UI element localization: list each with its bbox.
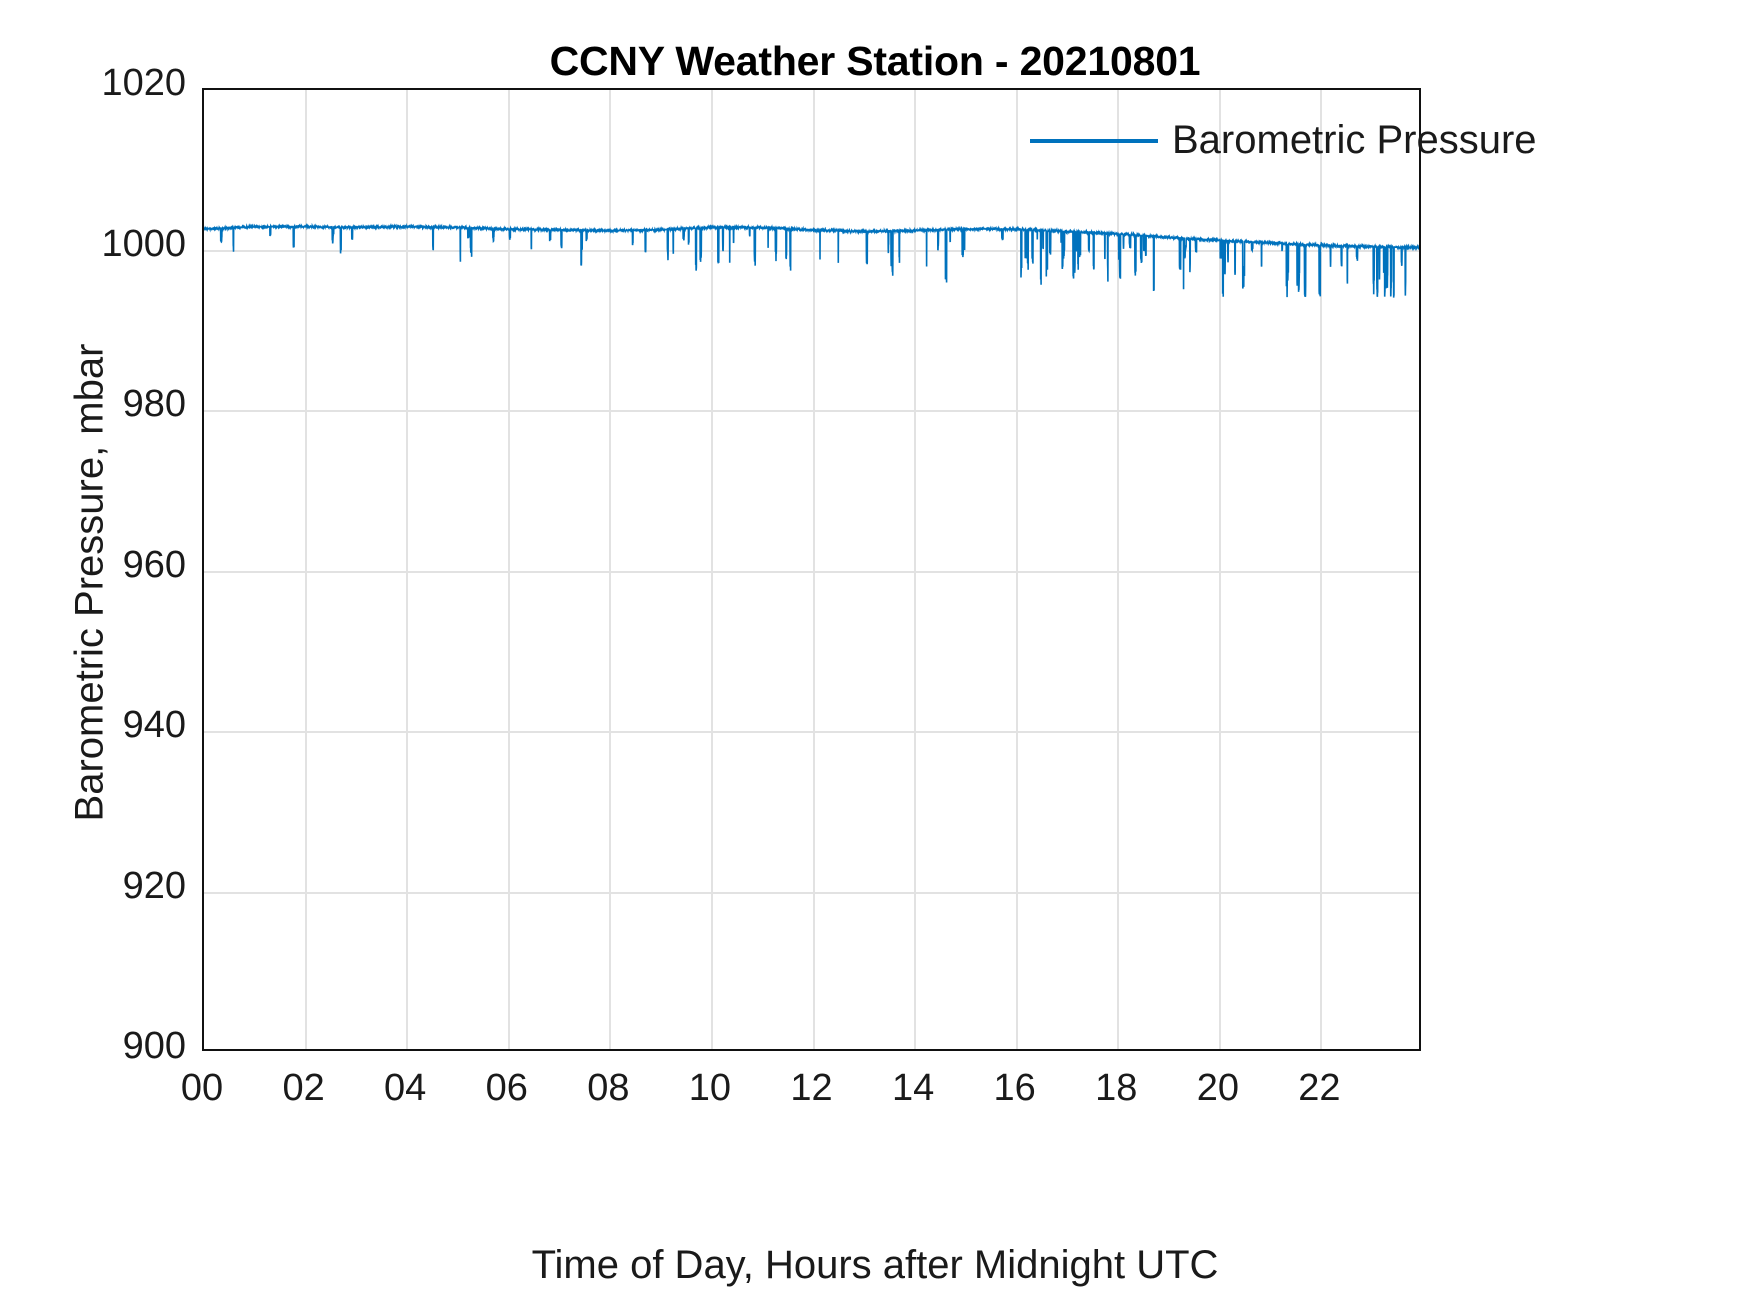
legend-line-swatch [1030, 139, 1158, 143]
plot-area [202, 88, 1421, 1051]
y-tick-label: 900 [123, 1025, 186, 1068]
data-series-barometric-pressure [204, 90, 1419, 1049]
y-tick-label: 1000 [101, 223, 186, 266]
y-tick-label: 940 [123, 704, 186, 747]
x-tick-label: 22 [1259, 1067, 1379, 1110]
y-tick-label: 1020 [101, 62, 186, 105]
x-axis-label: Time of Day, Hours after Midnight UTC [0, 1243, 1750, 1288]
y-tick-label: 960 [123, 544, 186, 587]
figure-canvas: CCNY Weather Station - 20210801 90092094… [0, 0, 1750, 1313]
legend: Barometric Pressure [1030, 118, 1537, 163]
y-axis-label: Barometric Pressure, mbar [68, 344, 112, 822]
y-tick-label: 980 [123, 383, 186, 426]
y-axis-label-wrapper: Barometric Pressure, mbar [68, 83, 113, 1083]
chart-title: CCNY Weather Station - 20210801 [0, 38, 1750, 85]
y-tick-label: 920 [123, 865, 186, 908]
legend-label-barometric-pressure: Barometric Pressure [1172, 118, 1537, 163]
